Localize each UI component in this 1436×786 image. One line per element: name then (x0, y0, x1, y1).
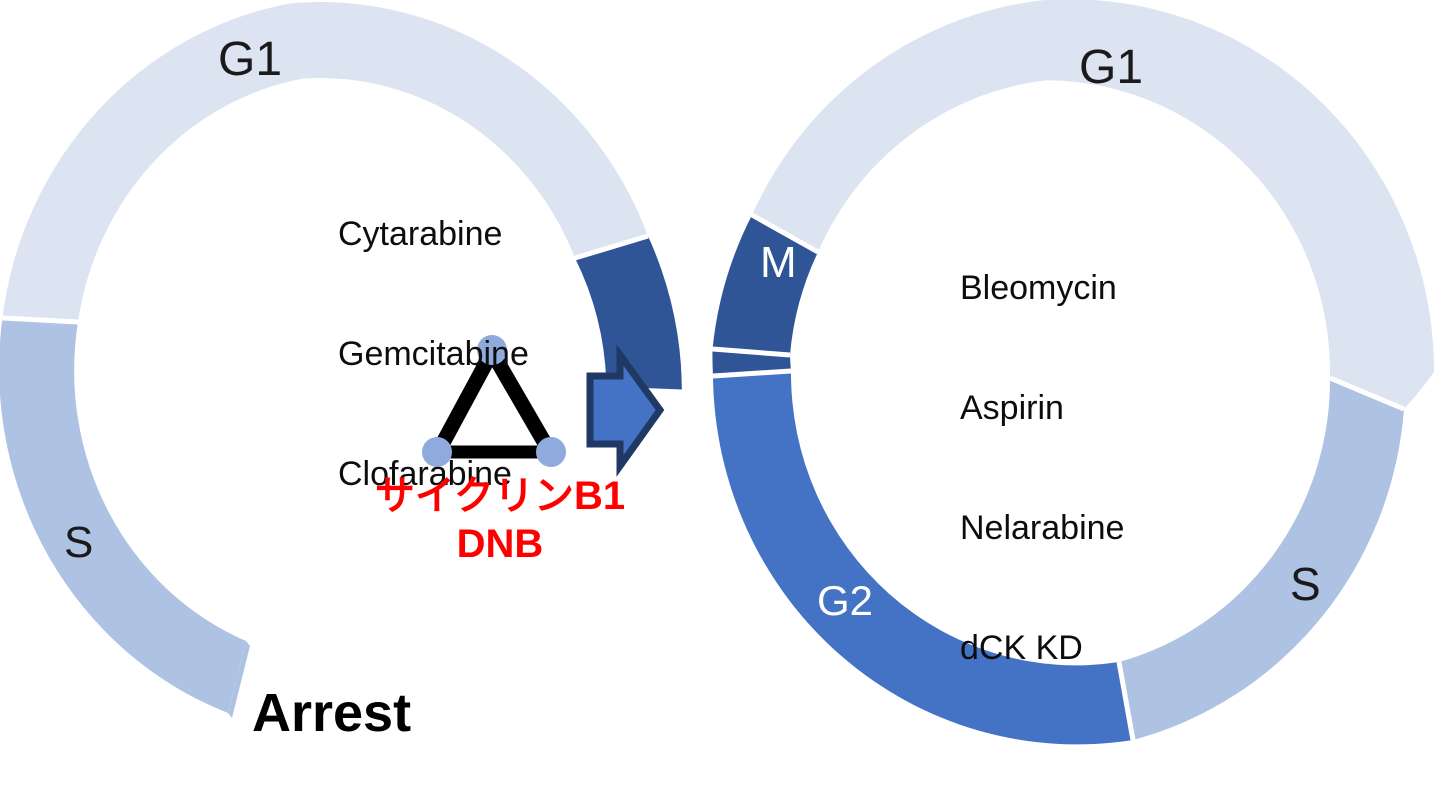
drug-item: Cytarabine (338, 214, 529, 254)
left-ring-s-segment (0, 318, 246, 713)
diagram-canvas: G1 S G1 S G2 M Cytarabine Gemcitabine Cl… (0, 0, 1436, 786)
drug-item: Gemcitabine (338, 334, 529, 374)
right-ring-s-label: S (1290, 561, 1321, 607)
right-ring-s-segment (1119, 378, 1404, 740)
right-cycle-drug-list: Bleomycin Aspirin Nelarabine dCK KD (960, 188, 1124, 748)
cell-cycle-svg (0, 0, 1436, 786)
dnb-caption: DNB (360, 520, 640, 568)
left-ring-g1-segment (2, 2, 648, 322)
right-ring-m-label: M (760, 241, 797, 285)
left-ring-s-label: S (64, 521, 93, 565)
right-ring-g2-label: G2 (817, 580, 873, 622)
left-ring-g1-label: G1 (218, 36, 282, 84)
arrest-label: Arrest (252, 682, 411, 744)
drug-item: Aspirin (960, 388, 1124, 428)
right-ring-g1-label: G1 (1079, 44, 1143, 92)
drug-item: Nelarabine (960, 508, 1124, 548)
drug-item: dCK KD (960, 628, 1124, 668)
drug-item: Bleomycin (960, 268, 1124, 308)
cyclin-b1-caption: サイクリンB1 (360, 472, 640, 520)
